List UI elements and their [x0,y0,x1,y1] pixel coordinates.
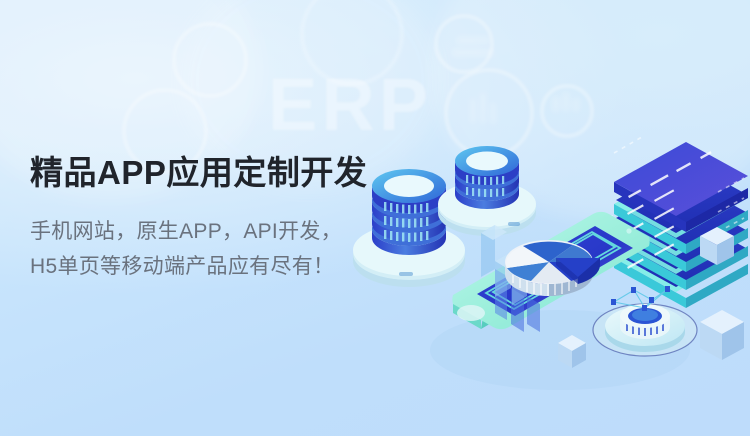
database-cylinder-right [438,146,536,236]
promo-banner: ERP [0,0,750,436]
floating-cube-right [700,310,744,360]
page-subtitle: 手机网站，原生APP，API开发，H5单页等移动端产品应有尽有！ [30,194,350,284]
copy-block: 精品APP应用定制开发 手机网站，原生APP，API开发，H5单页等移动端产品应… [30,152,370,284]
page-title: 精品APP应用定制开发 [30,152,370,194]
